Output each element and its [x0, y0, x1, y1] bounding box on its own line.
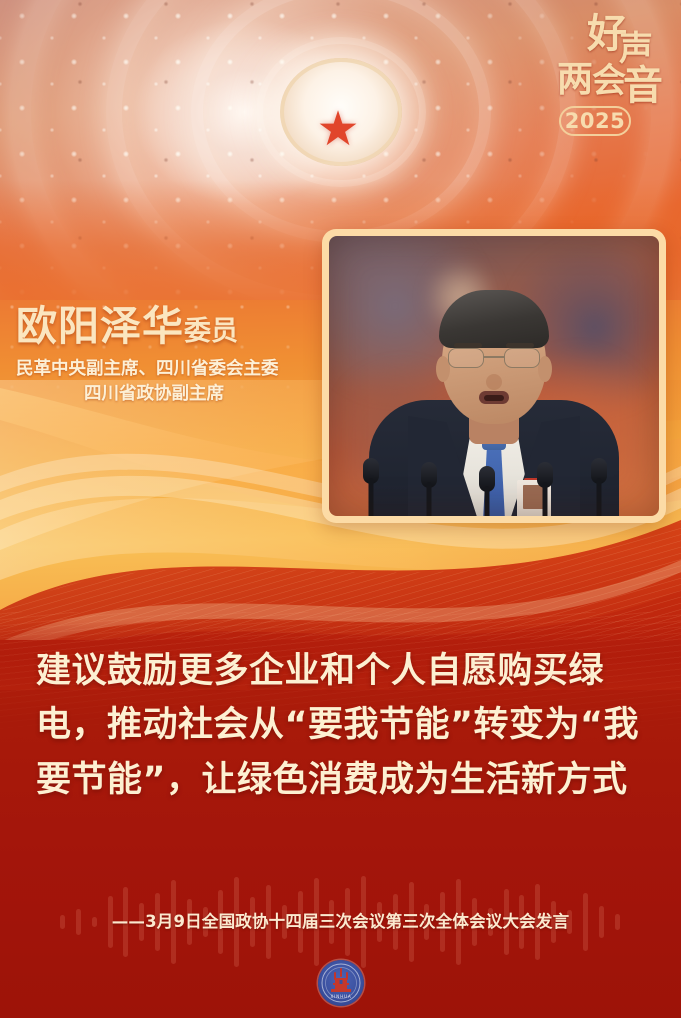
speaker-name: 欧阳泽华 [16, 302, 184, 350]
logo-year-badge: 2025 [559, 106, 631, 136]
brand-logo: 好 声 两 会 音 2025 [557, 14, 665, 146]
speaker-role: 委员 [184, 316, 238, 347]
xinhua-emblem-icon: XINHUA [318, 960, 364, 1006]
speaker-photo-frame [322, 229, 666, 523]
speaker-name-line: 欧阳泽华委员 [16, 305, 326, 348]
speaker-photo [329, 236, 659, 516]
ceiling-center-medallion [280, 58, 402, 166]
poster-canvas: 好 声 两 会 音 2025 欧阳泽华委员 民革中央副主席、四川省委会主委 四川… [0, 0, 681, 1018]
logo-char-hui: 会 [592, 64, 626, 98]
logo-char-yin: 音 [623, 66, 663, 106]
speaker-titles: 民革中央副主席、四川省委会主委 四川省政协副主席 [16, 357, 326, 408]
speaker-title-line-2: 四川省政协副主席 [16, 382, 326, 407]
svg-text:XINHUA: XINHUA [330, 994, 351, 999]
speaker-info-block: 欧阳泽华委员 民革中央副主席、四川省委会主委 四川省政协副主席 [16, 305, 326, 408]
quote-text: 建议鼓励更多企业和个人自愿购买绿电，推动社会从“要我节能”转变为“我要节能”，让… [36, 644, 650, 807]
logo-char-liang: 两 [557, 62, 593, 98]
attribution-text: ——3月9日全国政协十四届三次会议第三次全体会议大会发言 [0, 908, 681, 932]
speaker-title-line-1: 民革中央副主席、四川省委会主委 [16, 357, 326, 382]
photo-vignette [329, 236, 659, 516]
